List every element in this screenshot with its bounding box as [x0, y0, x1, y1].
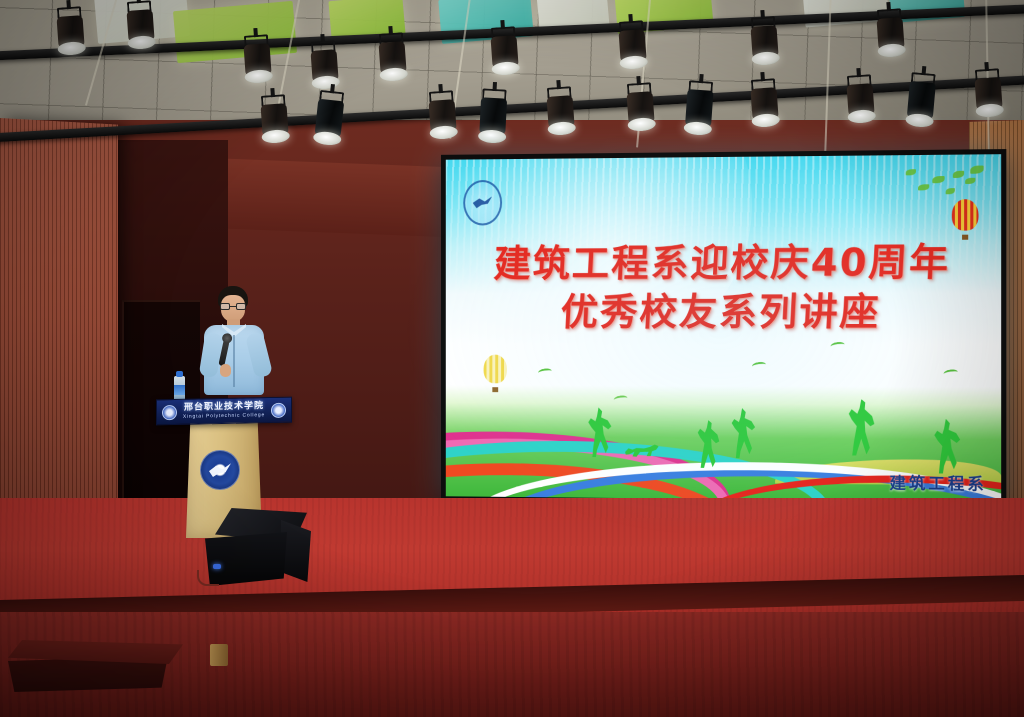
left-wood-wall-panel [0, 118, 118, 555]
stage-light-par [490, 35, 519, 81]
stage-light-par [126, 9, 155, 55]
stage-light-moving-head [479, 97, 507, 142]
school-crest-icon [463, 179, 502, 225]
stage-step-block[interactable] [8, 640, 183, 692]
stage-light-par [618, 29, 647, 75]
stage-light-par [626, 91, 655, 137]
small-wood-object [210, 644, 228, 666]
stage-light-par [846, 83, 875, 129]
nameplate-seal-left [162, 405, 177, 420]
screen-title-line-1: 建筑工程系迎校庆40周年 [446, 238, 1001, 289]
ceiling-panel [173, 1, 297, 63]
nameplate-seal-right [271, 403, 286, 418]
stage-light-moving-head [906, 81, 936, 127]
stage-light-par [243, 43, 272, 89]
eyeglasses-icon [220, 303, 246, 310]
swift-bird-icon [473, 196, 492, 208]
stage-light-par [56, 15, 85, 61]
stage-light-par [378, 41, 407, 87]
stage-light-par [974, 77, 1003, 123]
stage-light-par [750, 25, 779, 71]
bird-silhouette-icon [830, 341, 845, 350]
bottle-label [174, 385, 185, 395]
light-lens [57, 41, 86, 56]
swift-bird-icon [209, 463, 231, 477]
led-display-screen: 建筑工程系迎校庆40周年 优秀校友系列讲座 [441, 149, 1006, 507]
bird-silhouette-icon [752, 361, 767, 370]
stage-light-par [876, 17, 905, 63]
shirt-placket [233, 335, 235, 387]
hand [220, 364, 231, 377]
led-screen-content: 建筑工程系迎校庆40周年 优秀校友系列讲座 [446, 154, 1001, 502]
screen-title-block: 建筑工程系迎校庆40周年 优秀校友系列讲座 [446, 238, 1001, 337]
college-crest-icon [200, 450, 240, 490]
stage-light-moving-head [314, 99, 344, 145]
stage-light-moving-head [684, 89, 713, 135]
speaker-person [196, 286, 272, 404]
monitor-cable [197, 570, 219, 586]
monitor-power-led [213, 564, 221, 569]
screen-title-line-2: 优秀校友系列讲座 [446, 287, 1001, 336]
hot-air-balloon-red-icon [952, 200, 979, 241]
college-name-en: Xingtai Polytechnic College [183, 413, 265, 420]
department-name-mark: 建筑工程系 [890, 470, 987, 495]
balloon-envelope [952, 200, 979, 231]
stage-photo-scene: 建筑工程系迎校庆40周年 优秀校友系列讲座 [0, 0, 1024, 717]
stage-light-par [310, 49, 339, 95]
podium-nameplate: 邢台职业技术学院 Xingtai Polytechnic College [156, 397, 292, 426]
floor-monitor-speaker [205, 508, 313, 586]
stage-light-par [546, 95, 575, 141]
bottle-cap [176, 371, 183, 377]
stage-light-par [750, 87, 779, 133]
college-name-cn: 邢台职业技术学院 [184, 402, 264, 413]
stage-light-par [260, 103, 289, 149]
